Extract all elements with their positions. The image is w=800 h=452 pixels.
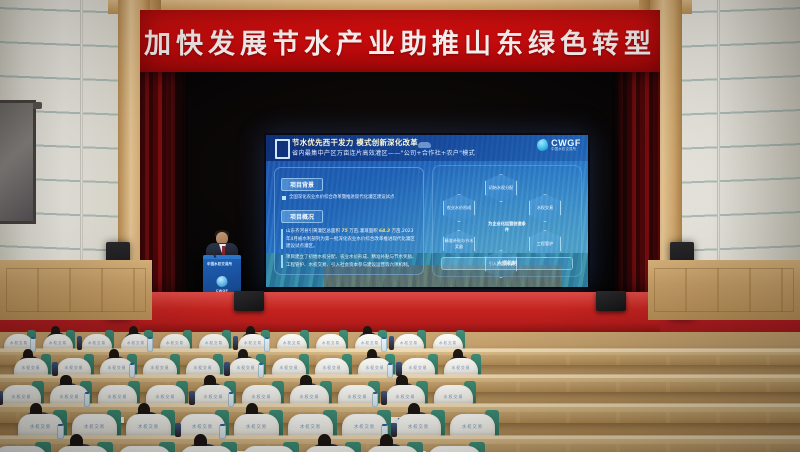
audience-chair: 水权交易 (56, 446, 109, 452)
audience-chair: 水权交易 (366, 446, 419, 452)
audience-chair: 水权交易 (304, 446, 357, 452)
chair-cover-text: 水权交易 (186, 366, 220, 371)
slide-section-label-2: 项目概况 (281, 210, 323, 223)
water-bottle (372, 393, 379, 407)
wainscot-left (0, 260, 152, 320)
audience-chair: 水权交易 (98, 385, 137, 406)
slide-surface: 节水优先西干发力 模式创新深化改革 省内最集中产区万亩连片高效灌区——"公司+合… (266, 135, 588, 287)
thermos-cup (0, 391, 3, 405)
wall-mount-bracket (33, 102, 42, 109)
chair-cover-text: 水权交易 (242, 394, 281, 400)
speaker-necktie (222, 246, 225, 255)
audience-chair: 水权交易 (386, 385, 425, 406)
thermos-cup (189, 391, 195, 405)
audience-chair: 水权交易 (290, 385, 329, 406)
chair-cover-text: 水权交易 (396, 424, 441, 430)
slide-header-bar: 节水优先西干发力 模式创新深化改革 省内最集中产区万亩连片高效灌区——"公司+合… (266, 135, 588, 161)
audience-chair: 水权交易 (242, 446, 295, 452)
water-bottle (84, 393, 91, 407)
chair-cover-text: 水权交易 (401, 366, 435, 371)
thermos-cup (396, 362, 402, 376)
chair-cover-text: 水权交易 (386, 394, 425, 400)
audience-chair: 水权交易 (450, 414, 495, 438)
slide-paragraph-2: 项目建立了初始水权分配、农业水价形成、精准补贴与节水奖励、工程管护、水权交易、引… (281, 254, 417, 269)
water-bottle (129, 364, 135, 378)
thermos-cup (175, 423, 181, 437)
chair-cover-text: 水权交易 (72, 424, 117, 430)
event-banner: 加快发展节水产业助推山东绿色转型 (140, 10, 660, 72)
chair-cover-text: 水权交易 (126, 424, 171, 430)
water-bottle (381, 338, 387, 352)
wall-art-panel (0, 100, 36, 224)
chair-cover-text: 水权交易 (434, 394, 473, 400)
logo-subtext: 中国水权交易所 (551, 148, 581, 151)
chair-cover-text: 水权交易 (290, 394, 329, 400)
chair-cover-text: 水权交易 (143, 366, 177, 371)
thermos-cup (77, 336, 82, 350)
slide-section-label-1: 项目背景 (281, 178, 323, 191)
chair-cover-text: 水权交易 (315, 366, 349, 371)
water-bottle (264, 338, 270, 352)
wainscot-right (648, 260, 800, 320)
water-bottle (387, 364, 393, 378)
chair-cover-text: 水权交易 (394, 341, 424, 346)
slide-title: 节水优先西干发力 模式创新深化改革 (292, 137, 418, 148)
chair-cover-text: 水权交易 (433, 341, 463, 346)
slide-bullet-item: 全国深化农业水价综合改革暨推进现代化灌区建设试点 (282, 195, 417, 201)
hex-node-0: 初始水权分配 (485, 174, 517, 202)
thermos-cup (233, 336, 238, 350)
presentation-screen: 节水优先西干发力 模式创新深化改革 省内最集中产区万亩连片高效灌区——"公司+合… (264, 133, 590, 289)
chair-cover-text: 水权交易 (450, 424, 495, 430)
bullet-square-icon (282, 196, 286, 200)
para1-highlight-2: 64.3 (379, 229, 390, 234)
thermos-cup (224, 362, 230, 376)
stage-curtain-right (614, 72, 660, 292)
chair-cover-text: 水权交易 (160, 341, 190, 346)
chair-cover-text: 水权交易 (82, 341, 112, 346)
stage-monitor-left (234, 291, 264, 311)
chair-cover-text: 水权交易 (288, 424, 333, 430)
audience-chair: 水权交易 (126, 414, 171, 438)
chair-cover-text: 水权交易 (277, 341, 307, 346)
slide-subtitle: 省内最集中产区万亩连片高效灌区——"公司+合作社+农户"模式 (292, 148, 475, 157)
cloud-icon (418, 142, 431, 148)
slide-paragraph-1: 山东齐河县引黄灌区总面积 75 万亩,灌溉面积 64.3 万亩,2023年4月被… (281, 228, 417, 250)
stage-curtain-left (140, 72, 186, 292)
chair-cover-text: 水权交易 (272, 366, 306, 371)
chair-cover-text: 水权交易 (98, 394, 137, 400)
audience-chair: 水权交易 (396, 414, 441, 438)
chair-cover-text: 水权交易 (2, 394, 41, 400)
water-bottle (228, 393, 235, 407)
para1-part-b: 万亩,灌溉面积 (348, 229, 379, 234)
hex-node-1: 水权交易 (529, 194, 561, 222)
audience-chair: 水权交易 (146, 385, 185, 406)
event-banner-text: 加快发展节水产业助推山东绿色转型 (140, 10, 660, 72)
auditorium-seating: 水权交易水权交易水权交易水权交易水权交易水权交易水权交易水权交易水权交易水权交易… (0, 332, 800, 452)
slide-hexagon-diagram: 初始水权分配 水权交易 工程管护 引入社会资本 精准补贴与节水奖励 农业水价形成… (432, 165, 582, 277)
chair-cover-text: 水权交易 (234, 424, 279, 430)
stage-floor (140, 292, 660, 332)
chair-cover-text: 水权交易 (146, 394, 185, 400)
chair-cover-text: 水权交易 (444, 366, 478, 371)
water-bottle (219, 425, 226, 439)
chair-cover-text: 水权交易 (316, 341, 346, 346)
audience-chair: 水权交易 (180, 446, 233, 452)
hex-node-5: 农业水价形成 (443, 194, 475, 222)
podium-top-label: 中国水权交易所 (207, 261, 232, 266)
audience-chair: 水权交易 (242, 385, 281, 406)
water-bottle (57, 425, 64, 439)
chair-cover-text: 水权交易 (43, 341, 73, 346)
conference-hall-photo: 加快发展节水产业助推山东绿色转型 节水优先西干发力 模式创新深化改革 省内最集中… (0, 0, 800, 452)
podium-water-drop-icon (217, 276, 228, 287)
slide-title-marker-icon (275, 139, 290, 159)
hex-center-label: 为企业化运营创造条件 (487, 210, 527, 244)
water-drop-icon (537, 139, 548, 151)
audience-chair: 水权交易 (118, 446, 171, 452)
slide-text-card: 项目背景 全国深化农业水价综合改革暨推进现代化灌区建设试点 项目概况 山东齐河县… (274, 167, 424, 275)
para1-part-a: 山东齐河县引黄灌区总面积 (286, 229, 341, 234)
chair-cover-text: 水权交易 (199, 341, 229, 346)
thermos-cup (389, 336, 394, 350)
audience-chair: 水权交易 (0, 446, 47, 452)
audience-chair: 水权交易 (234, 414, 279, 438)
chair-cover-text: 水权交易 (14, 366, 48, 371)
audience-chair: 水权交易 (434, 385, 473, 406)
hex-node-4: 精准补贴与节水奖励 (443, 230, 475, 258)
thermos-cup (391, 423, 397, 437)
chair-cover-text: 水权交易 (57, 366, 91, 371)
podium-top-surface (203, 255, 241, 259)
audience-chair: 水权交易 (428, 446, 481, 452)
slide-bullet-text: 全国深化农业水价综合改革暨推进现代化灌区建设试点 (289, 195, 394, 201)
thermos-cup (52, 362, 58, 376)
stage-monitor-right (596, 291, 626, 311)
water-bottle (147, 338, 153, 352)
diagram-footer-label: 六项机制 (441, 257, 573, 270)
hex-node-2: 工程管护 (529, 230, 561, 258)
thermos-cup (381, 391, 387, 405)
slide-logo: CWGF 中国水权交易所 (537, 139, 581, 151)
water-bottle (258, 364, 264, 378)
